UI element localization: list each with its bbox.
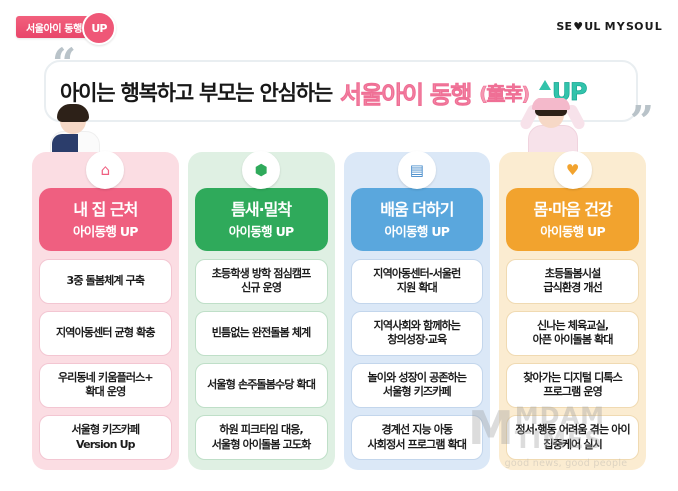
list-item[interactable]: 하원 피크타임 대응,서울형 아이돌봄 고도화 bbox=[195, 415, 328, 460]
list-item[interactable]: 우리동네 키움플러스+확대 운영 bbox=[39, 363, 172, 408]
brand-badge-up-logo: UP bbox=[82, 11, 116, 45]
list-item[interactable]: 초등학생 방학 점심캠프신규 운영 bbox=[195, 259, 328, 304]
column-title: 몸·마음 건강 bbox=[510, 201, 635, 219]
logo-part-2: UL M bbox=[584, 20, 616, 33]
shield-icon: ⬢ bbox=[242, 151, 280, 189]
infographic-page: 서울아이 동행 UP SE ♥ UL M Y SO U L “ ” 아이는 행복… bbox=[0, 0, 678, 491]
up-arrow-icon bbox=[539, 80, 551, 90]
child-hair bbox=[57, 104, 89, 122]
quote-close-icon: ” bbox=[630, 108, 654, 136]
brand-badge-label: 서울아이 동행 bbox=[26, 20, 82, 35]
column-learning-plus: ▤ 배움 더하기 아이동행 UP 지역아동센터-서울런지원 확대 지역사회와 함… bbox=[344, 152, 491, 470]
logo-part-4: L bbox=[655, 20, 662, 33]
list-item[interactable]: 경계선 지능 아동사회정서 프로그램 확대 bbox=[351, 415, 484, 460]
list-item[interactable]: 빈틈없는 완전돌봄 체계 bbox=[195, 311, 328, 356]
list-item[interactable]: 서울형 손주돌봄수당 확대 bbox=[195, 363, 328, 408]
list-item[interactable]: 초등돌봄시설급식환경 개선 bbox=[506, 259, 639, 304]
column-subtitle: 아이동행 UP bbox=[355, 221, 480, 240]
column-items: 초등학생 방학 점심캠프신규 운영 빈틈없는 완전돌봄 체계 서울형 손주돌봄수… bbox=[195, 259, 328, 460]
headline-dark-text: 아이는 행복하고 부모는 안심하는 bbox=[60, 77, 332, 107]
list-item[interactable]: 3중 돌봄체계 구축 bbox=[39, 259, 172, 304]
dots-icon: U bbox=[645, 20, 654, 33]
column-title: 틈새·밀착 bbox=[199, 201, 324, 219]
logo-part-1: SE bbox=[556, 20, 572, 33]
list-item[interactable]: 놀이와 성장이 공존하는서울형 키즈카페 bbox=[351, 363, 484, 408]
list-item[interactable]: 지역아동센터-서울런지원 확대 bbox=[351, 259, 484, 304]
column-items: 지역아동센터-서울런지원 확대 지역사회와 함께하는창의성장·교육 놀이와 성장… bbox=[351, 259, 484, 460]
list-item[interactable]: 찾아가는 디지털 디톡스프로그램 운영 bbox=[506, 363, 639, 408]
brand-badge: 서울아이 동행 UP bbox=[16, 16, 108, 38]
heart-smile-icon: ♥ bbox=[554, 151, 592, 189]
list-item[interactable]: 지역아동센터 균형 확충 bbox=[39, 311, 172, 356]
logo-part-3: SO bbox=[626, 20, 644, 33]
column-subtitle: 아이동행 UP bbox=[510, 221, 635, 240]
column-items: 3중 돌봄체계 구축 지역아동센터 균형 확충 우리동네 키움플러스+확대 운영… bbox=[39, 259, 172, 460]
star-icon: Y bbox=[617, 20, 625, 33]
book-lightbulb-icon: ▤ bbox=[398, 151, 436, 189]
column-subtitle: 아이동행 UP bbox=[199, 221, 324, 240]
list-item[interactable]: 서울형 키즈카페Version Up bbox=[39, 415, 172, 460]
seoul-my-soul-logo: SE ♥ UL M Y SO U L bbox=[556, 20, 662, 33]
category-columns: ⌂ 내 집 근처 아이동행 UP 3중 돌봄체계 구축 지역아동센터 균형 확충… bbox=[32, 152, 646, 470]
list-item[interactable]: 신나는 체육교실,아픈 아이돌봄 확대 bbox=[506, 311, 639, 356]
headline-pink-text: 서울아이 동행 bbox=[340, 75, 471, 110]
list-item[interactable]: 정서·행동 어려움 겪는 아이집중케어 실시 bbox=[506, 415, 639, 460]
child-photo-right bbox=[512, 98, 596, 160]
child-cap bbox=[532, 98, 570, 110]
column-items: 초등돌봄시설급식환경 개선 신나는 체육교실,아픈 아이돌봄 확대 찾아가는 디… bbox=[506, 259, 639, 460]
column-gap-close-care: ⬢ 틈새·밀착 아이동행 UP 초등학생 방학 점심캠프신규 운영 빈틈없는 완… bbox=[188, 152, 335, 470]
column-subtitle: 아이동행 UP bbox=[43, 221, 168, 240]
column-header: 틈새·밀착 아이동행 UP bbox=[195, 188, 328, 251]
column-body-mind-health: ♥ 몸·마음 건강 아이동행 UP 초등돌봄시설급식환경 개선 신나는 체육교실… bbox=[499, 152, 646, 470]
column-title: 내 집 근처 bbox=[43, 201, 168, 219]
house-icon: ⌂ bbox=[86, 151, 124, 189]
heart-icon: ♥ bbox=[573, 20, 583, 33]
list-item[interactable]: 지역사회와 함께하는창의성장·교육 bbox=[351, 311, 484, 356]
column-title: 배움 더하기 bbox=[355, 201, 480, 219]
column-header: 내 집 근처 아이동행 UP bbox=[39, 188, 172, 251]
column-header: 배움 더하기 아이동행 UP bbox=[351, 188, 484, 251]
column-near-home: ⌂ 내 집 근처 아이동행 UP 3중 돌봄체계 구축 지역아동센터 균형 확충… bbox=[32, 152, 179, 470]
column-header: 몸·마음 건강 아이동행 UP bbox=[506, 188, 639, 251]
